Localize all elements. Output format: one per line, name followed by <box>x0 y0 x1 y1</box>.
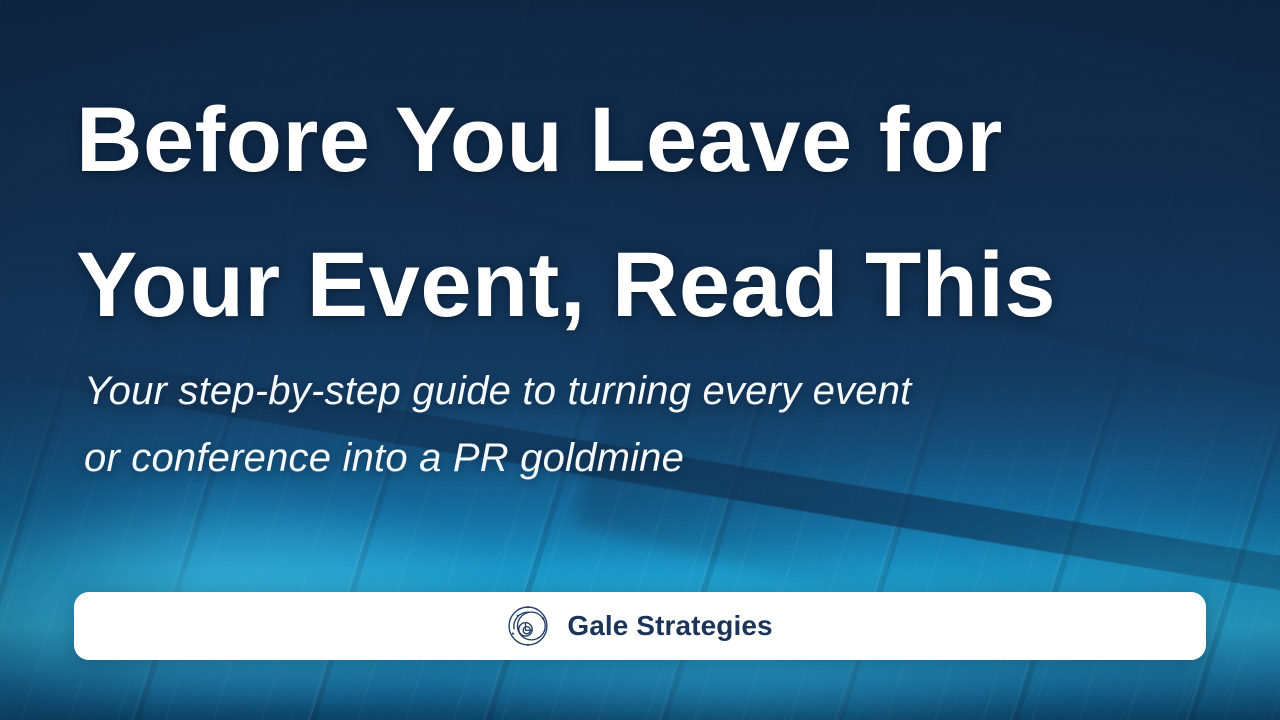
slide-subheadline: Your step-by-step guide to turning every… <box>84 358 1204 492</box>
brand-name-label: Gale Strategies <box>567 610 772 642</box>
gale-strategies-logo-icon <box>507 605 549 647</box>
slide-headline: Before You Leave for Your Event, Read Th… <box>76 68 1216 359</box>
presentation-slide: Before You Leave for Your Event, Read Th… <box>0 0 1280 720</box>
brand-footer-bar: Gale Strategies <box>74 592 1206 660</box>
slide-content: Before You Leave for Your Event, Read Th… <box>0 0 1280 720</box>
